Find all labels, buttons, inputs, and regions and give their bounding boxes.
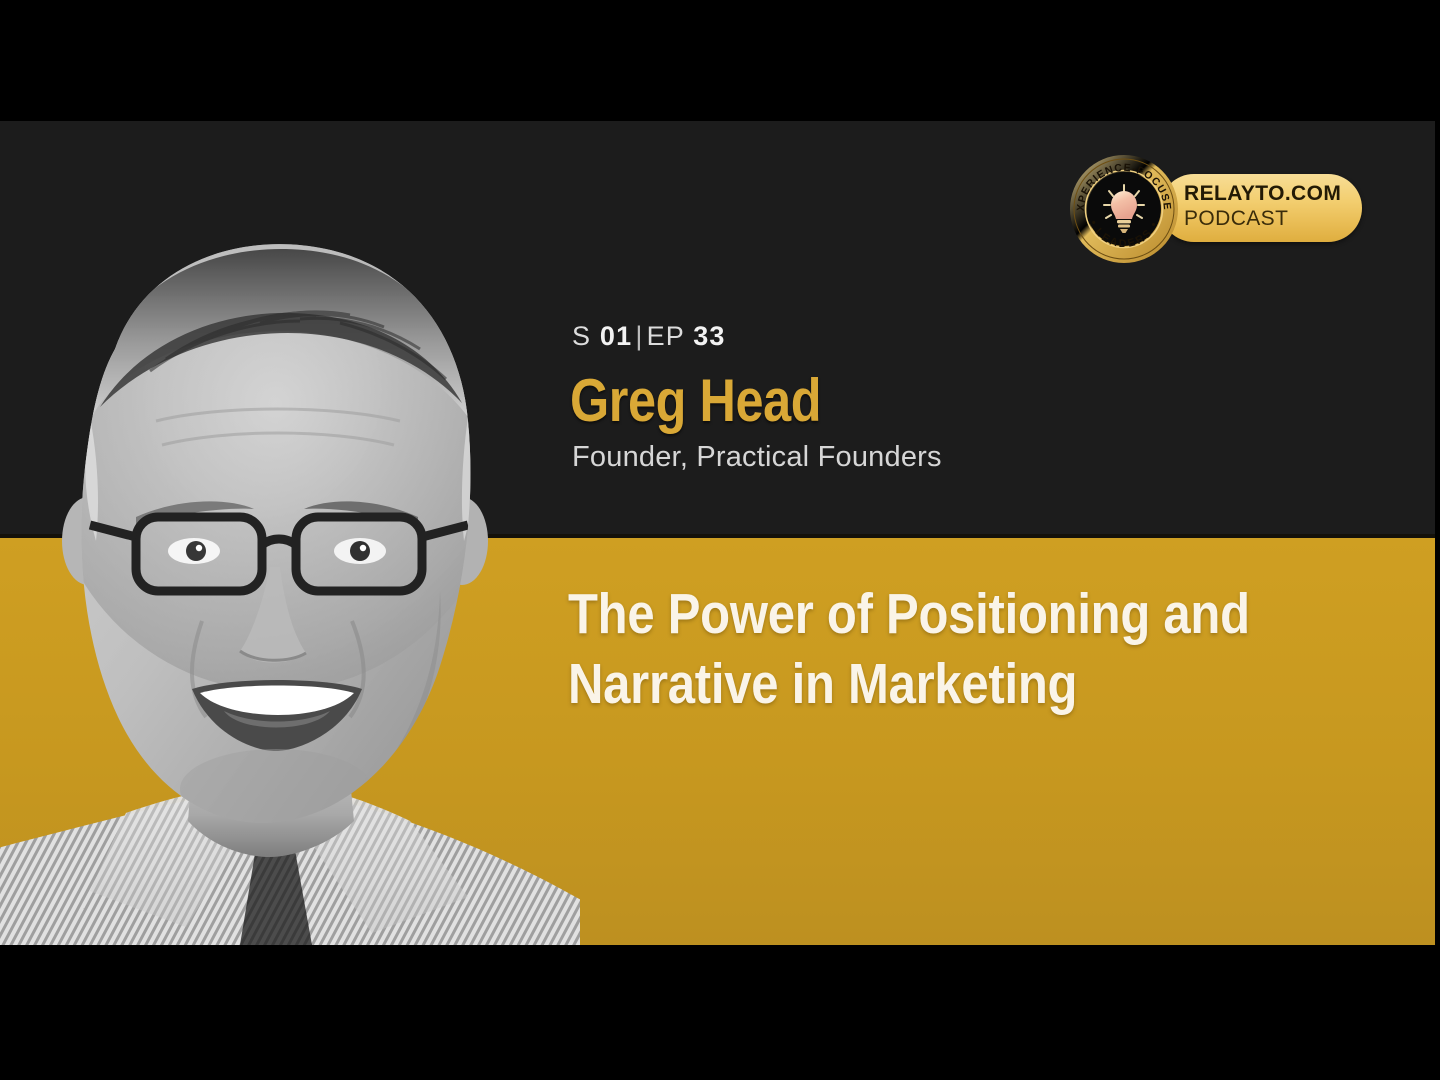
separator: | xyxy=(632,321,646,351)
guest-name: Greg Head xyxy=(570,370,821,432)
season-label: S xyxy=(572,321,591,351)
experience-focused-leaders-badge: EXPERIENCE-FOCUSED • LEADERS • xyxy=(1068,153,1180,265)
season-number: 01 xyxy=(600,321,632,351)
logo-pill-text: RELAYTO.COM PODCAST xyxy=(1184,181,1364,231)
episode-number: 33 xyxy=(693,321,725,351)
episode-title: The Power of Positioning and Narrative i… xyxy=(568,579,1256,719)
logo-brand-name: RELAYTO.COM xyxy=(1184,181,1364,206)
logo-podcast-label: PODCAST xyxy=(1184,206,1364,231)
podcast-logo[interactable]: RELAYTO.COM PODCAST xyxy=(1068,153,1364,265)
episode-number-line: S 01|EP 33 xyxy=(572,321,726,352)
letterbox-bar-bottom xyxy=(0,945,1440,1080)
guest-role: Founder, Practical Founders xyxy=(572,441,942,474)
card-canvas: S 01|EP 33 Greg Head Founder, Practical … xyxy=(0,121,1440,945)
guest-portrait xyxy=(0,121,580,945)
letterbox-bar-top xyxy=(0,0,1440,121)
letterbox-edge-right xyxy=(1435,0,1440,1080)
episode-label: EP xyxy=(647,321,685,351)
podcast-episode-card: S 01|EP 33 Greg Head Founder, Practical … xyxy=(0,0,1440,1080)
